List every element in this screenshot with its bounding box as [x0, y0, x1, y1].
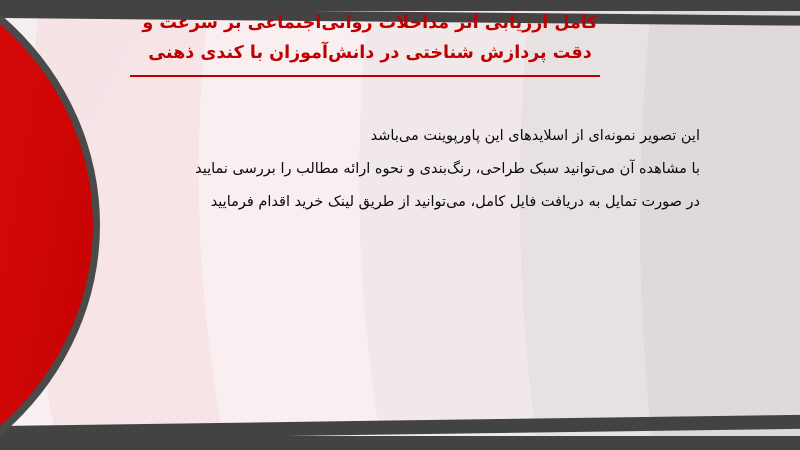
slide-title-line-2: دقت پردازش شناختی در دانش‌آموزان با کندی…	[148, 38, 591, 68]
slide-body-line-2: با مشاهده آن می‌توانید سبک طراحی، رنگ‌بن…	[110, 153, 700, 186]
slide-body-line-1: این تصویر نمونه‌ای از اسلایدهای این پاور…	[110, 120, 700, 153]
presentation-slide: کامل ارزیابی اثر مداخلات روانی‌اجتماعی ب…	[0, 0, 800, 450]
slide-title-underline	[130, 75, 600, 77]
slide-title: کامل ارزیابی اثر مداخلات روانی‌اجتماعی ب…	[60, 8, 680, 68]
slide-body: این تصویر نمونه‌ای از اسلایدهای این پاور…	[110, 120, 700, 219]
slide-title-line-1: کامل ارزیابی اثر مداخلات روانی‌اجتماعی ب…	[60, 8, 680, 38]
slide-body-line-3: در صورت تمایل به دریافت فایل کامل، می‌تو…	[110, 186, 700, 219]
